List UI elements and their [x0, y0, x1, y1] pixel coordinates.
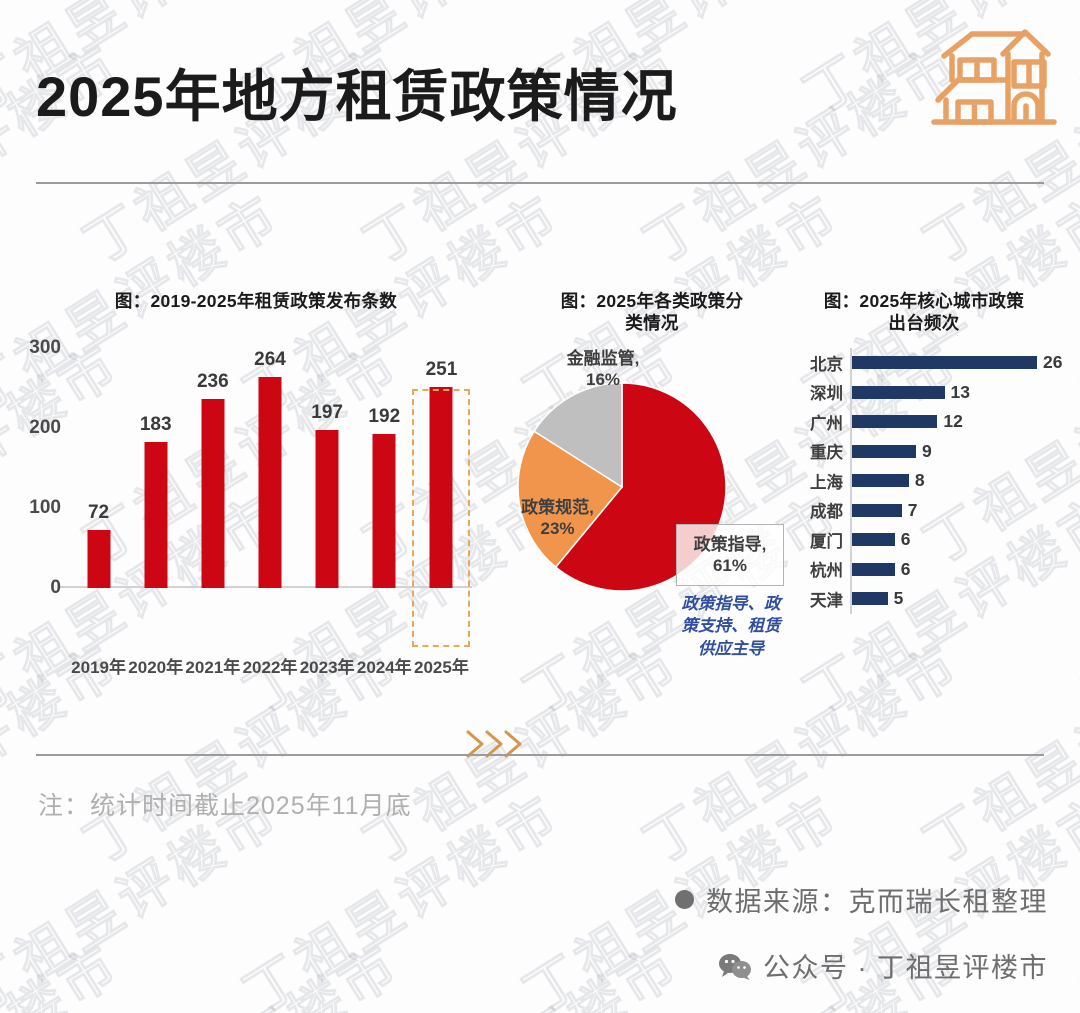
- pie-label-policy-standard: 政策规范, 23%: [495, 497, 620, 540]
- pie-annotation: 政策指导、政 策支持、租赁 供应主导: [671, 593, 791, 660]
- house-icon: [928, 12, 1060, 134]
- watermark-text: 丁祖昱评楼市: [346, 921, 693, 1013]
- source-text: 数据来源：克而瑞长租整理: [706, 880, 1048, 919]
- policy-type-pie-chart: 图：2025年各类政策分 类情况 金融监管, 16% 政策规范, 23% 政策指…: [495, 290, 795, 690]
- bar-value-label: 72: [88, 502, 109, 524]
- city-value-label: 7: [908, 500, 918, 521]
- city-bar: [852, 533, 895, 546]
- y-axis-tick: 200: [29, 417, 61, 439]
- watermark-text: 丁祖昱评楼市: [1066, 771, 1080, 1013]
- chevron-right-triple-icon: [462, 720, 534, 768]
- policy-count-bar-chart: 图：2019-2025年租赁政策发布条数 0100200300 72183236…: [12, 290, 482, 640]
- city-bar: [852, 504, 902, 517]
- x-axis-label: 2025年: [407, 653, 475, 678]
- city-name: 深圳: [793, 380, 843, 404]
- bar: [373, 434, 396, 588]
- city-bar: [852, 563, 895, 576]
- city-name: 重庆: [793, 439, 843, 463]
- bar-value-label: 264: [254, 349, 286, 371]
- city-value-label: 13: [951, 382, 970, 403]
- city-value-label: 26: [1043, 352, 1062, 373]
- city-bar: [852, 356, 1037, 369]
- city-row: 上海8: [793, 466, 1063, 496]
- city-chart-plot: 北京26深圳13广州12重庆9上海8成都7厦门6杭州6天津5: [793, 348, 1063, 614]
- city-name: 厦门: [793, 528, 843, 552]
- city-name: 成都: [793, 498, 843, 522]
- source-line: 数据来源：克而瑞长租整理: [675, 880, 1048, 919]
- footer-note: 注：统计时间截止2025年11月底: [38, 786, 412, 822]
- city-row: 深圳13: [793, 378, 1063, 408]
- city-value-label: 8: [915, 470, 925, 491]
- city-name: 广州: [793, 410, 843, 434]
- y-axis-tick: 300: [29, 337, 61, 359]
- city-value-label: 5: [894, 588, 904, 609]
- y-axis-tick: 0: [50, 577, 61, 599]
- bar-value-label: 236: [197, 371, 229, 393]
- city-bar: [852, 415, 937, 428]
- city-name: 上海: [793, 469, 843, 493]
- city-row: 天津5: [793, 584, 1063, 614]
- bar: [87, 530, 110, 588]
- bar-column: 192: [356, 348, 412, 588]
- city-name: 天津: [793, 587, 843, 611]
- city-value-label: 12: [943, 411, 962, 432]
- city-row: 北京26: [793, 348, 1063, 378]
- bar-chart-title: 图：2019-2025年租赁政策发布条数: [30, 290, 482, 312]
- city-chart-rows: 北京26深圳13广州12重庆9上海8成都7厦门6杭州6天津5: [793, 348, 1063, 614]
- bar-column: 264: [242, 348, 298, 588]
- wechat-line: 公众号 · 丁祖昱评楼市: [718, 946, 1048, 985]
- bar-column: 236: [185, 348, 241, 588]
- city-bar: [852, 474, 909, 487]
- highlight-box-2025: [412, 389, 470, 647]
- city-bar: [852, 386, 945, 399]
- city-name: 杭州: [793, 557, 843, 581]
- wechat-icon: [718, 952, 752, 980]
- bar-value-label: 192: [368, 406, 400, 428]
- city-value-label: 9: [922, 441, 932, 462]
- header-divider: [36, 182, 1044, 184]
- city-value-label: 6: [901, 529, 911, 550]
- bar-column: 183: [128, 348, 184, 588]
- city-chart-title: 图：2025年核心城市政策 出台频次: [793, 290, 1055, 335]
- bullet-dot-icon: [675, 890, 694, 909]
- city-row: 成都7: [793, 496, 1063, 526]
- bar: [316, 430, 339, 588]
- city-row: 杭州6: [793, 555, 1063, 585]
- page-title: 2025年地方租赁政策情况: [36, 52, 678, 133]
- bar: [144, 442, 167, 588]
- city-bar: [852, 592, 888, 605]
- bar: [259, 377, 282, 588]
- city-value-label: 6: [901, 559, 911, 580]
- bar: [201, 399, 224, 588]
- bar-value-label: 197: [311, 402, 343, 424]
- infographic-page: 丁祖昱评楼市丁祖昱评楼市丁祖昱评楼市丁祖昱评楼市丁祖昱评楼市丁祖昱评楼市丁祖昱评…: [0, 0, 1080, 1013]
- pie-label-policy-guidance: 政策指导, 61%: [676, 524, 784, 586]
- watermark-text: 丁祖昱评楼市: [0, 771, 14, 1013]
- pie-label-financial-regulation: 金融监管, 16%: [543, 348, 663, 391]
- watermark-text: 丁祖昱评楼市: [66, 921, 413, 1013]
- footer-divider: [36, 754, 1044, 756]
- city-row: 重庆9: [793, 437, 1063, 467]
- bar-value-label: 183: [140, 414, 172, 436]
- city-row: 厦门6: [793, 525, 1063, 555]
- city-bar: [852, 445, 916, 458]
- y-axis-tick: 100: [29, 497, 61, 519]
- bar-value-label: 251: [426, 359, 458, 381]
- bar-column: 72: [71, 348, 127, 588]
- charts-row: 图：2019-2025年租赁政策发布条数 0100200300 72183236…: [0, 290, 1080, 710]
- bar-column: 197: [299, 348, 355, 588]
- bar-chart-plot: 0100200300 72183236264197192251 2019年202…: [70, 348, 470, 588]
- pie-chart-title: 图：2025年各类政策分 类情况: [517, 290, 787, 335]
- watermark-text: 丁祖昱评楼市: [0, 921, 134, 1013]
- city-row: 广州12: [793, 407, 1063, 437]
- header: 2025年地方租赁政策情况: [0, 0, 1080, 190]
- city-frequency-bar-chart: 图：2025年核心城市政策 出台频次 北京26深圳13广州12重庆9上海8成都7…: [793, 290, 1073, 650]
- city-name: 北京: [793, 351, 843, 375]
- wechat-text: 公众号 · 丁祖昱评楼市: [763, 946, 1048, 985]
